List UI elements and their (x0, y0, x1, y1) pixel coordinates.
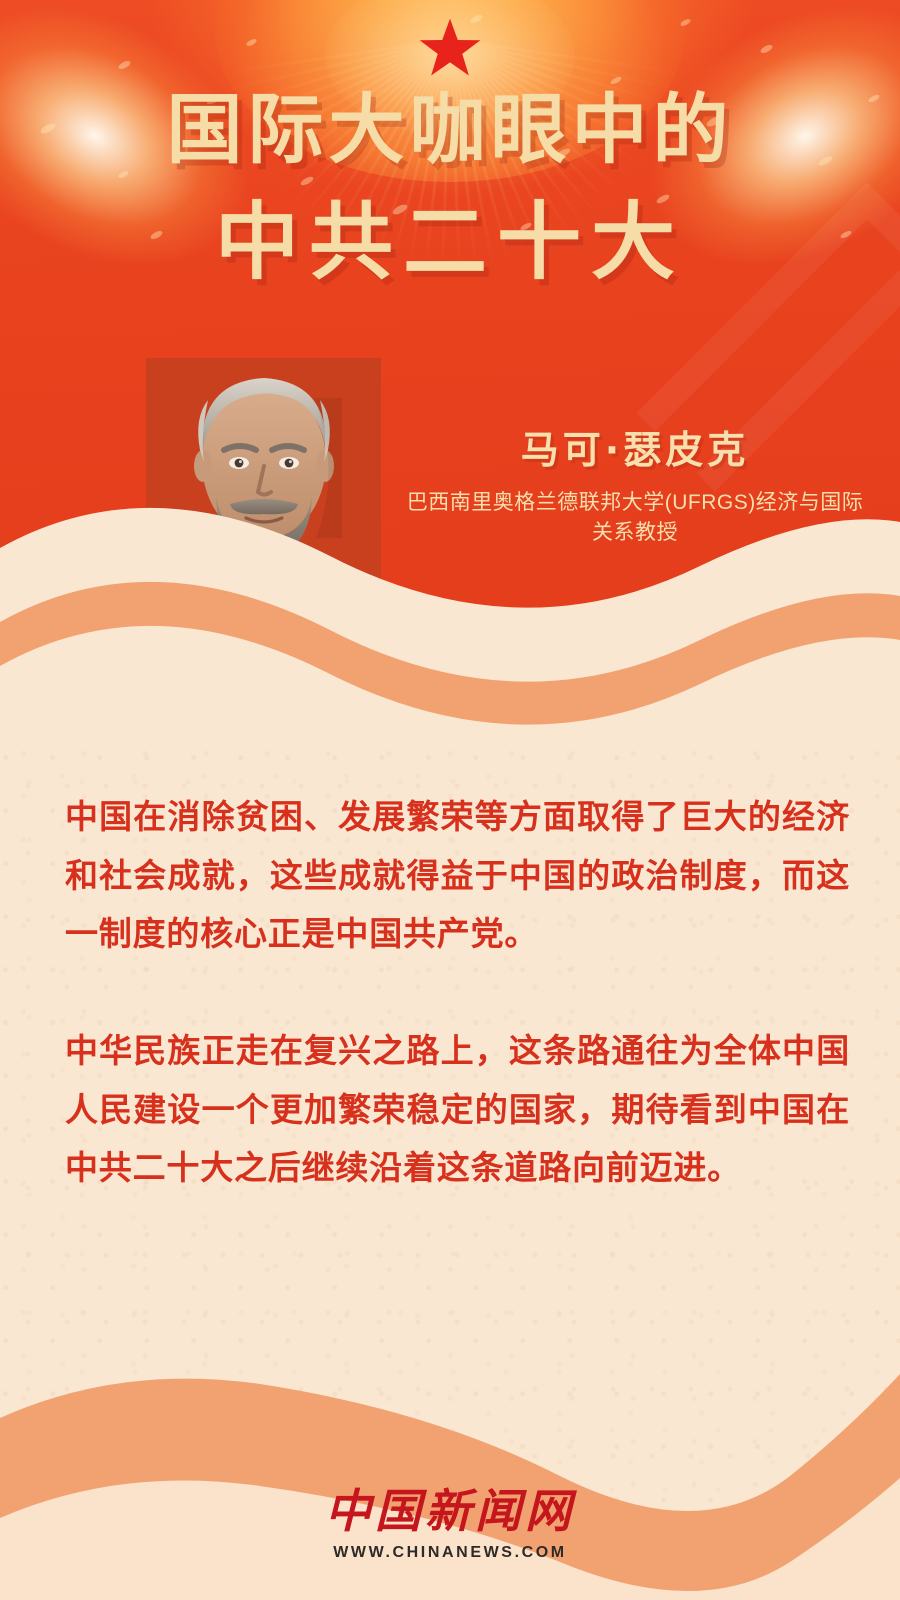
speaker-info: 马可·瑟皮克 巴西南里奥格兰德联邦大学(UFRGS)经济与国际关系教授 (400, 430, 870, 549)
title-line-2: 中共二十大 (0, 200, 900, 284)
petal-decoration (117, 59, 131, 70)
title-line-1: 国际大咖眼中的 (0, 92, 900, 168)
speaker-affiliation: 巴西南里奥格兰德联邦大学(UFRGS)经济与国际关系教授 (400, 488, 870, 549)
quote-paragraph-2: 中华民族正走在复兴之路上，这条路通往为全体中国人民建设一个更加繁荣稳定的国家，期… (65, 1022, 850, 1198)
speaker-portrait (146, 358, 381, 658)
red-star-icon (417, 16, 483, 82)
quote-paragraph-1: 中国在消除贫困、发展繁荣等方面取得了巨大的经济和社会成就，这些成就得益于中国的政… (65, 788, 850, 964)
logo-url-text: WWW.CHINANEWS.COM (0, 1544, 900, 1562)
poster-title: 国际大咖眼中的 中共二十大 (0, 92, 900, 284)
site-logo: 中国新闻网 WWW.CHINANEWS.COM (0, 1488, 900, 1562)
speaker-name: 马可·瑟皮克 (400, 430, 870, 472)
poster-canvas: 国际大咖眼中的 中共二十大 (0, 0, 900, 1600)
logo-chinese-text: 中国新闻网 (0, 1488, 900, 1534)
petal-decoration (759, 43, 773, 54)
